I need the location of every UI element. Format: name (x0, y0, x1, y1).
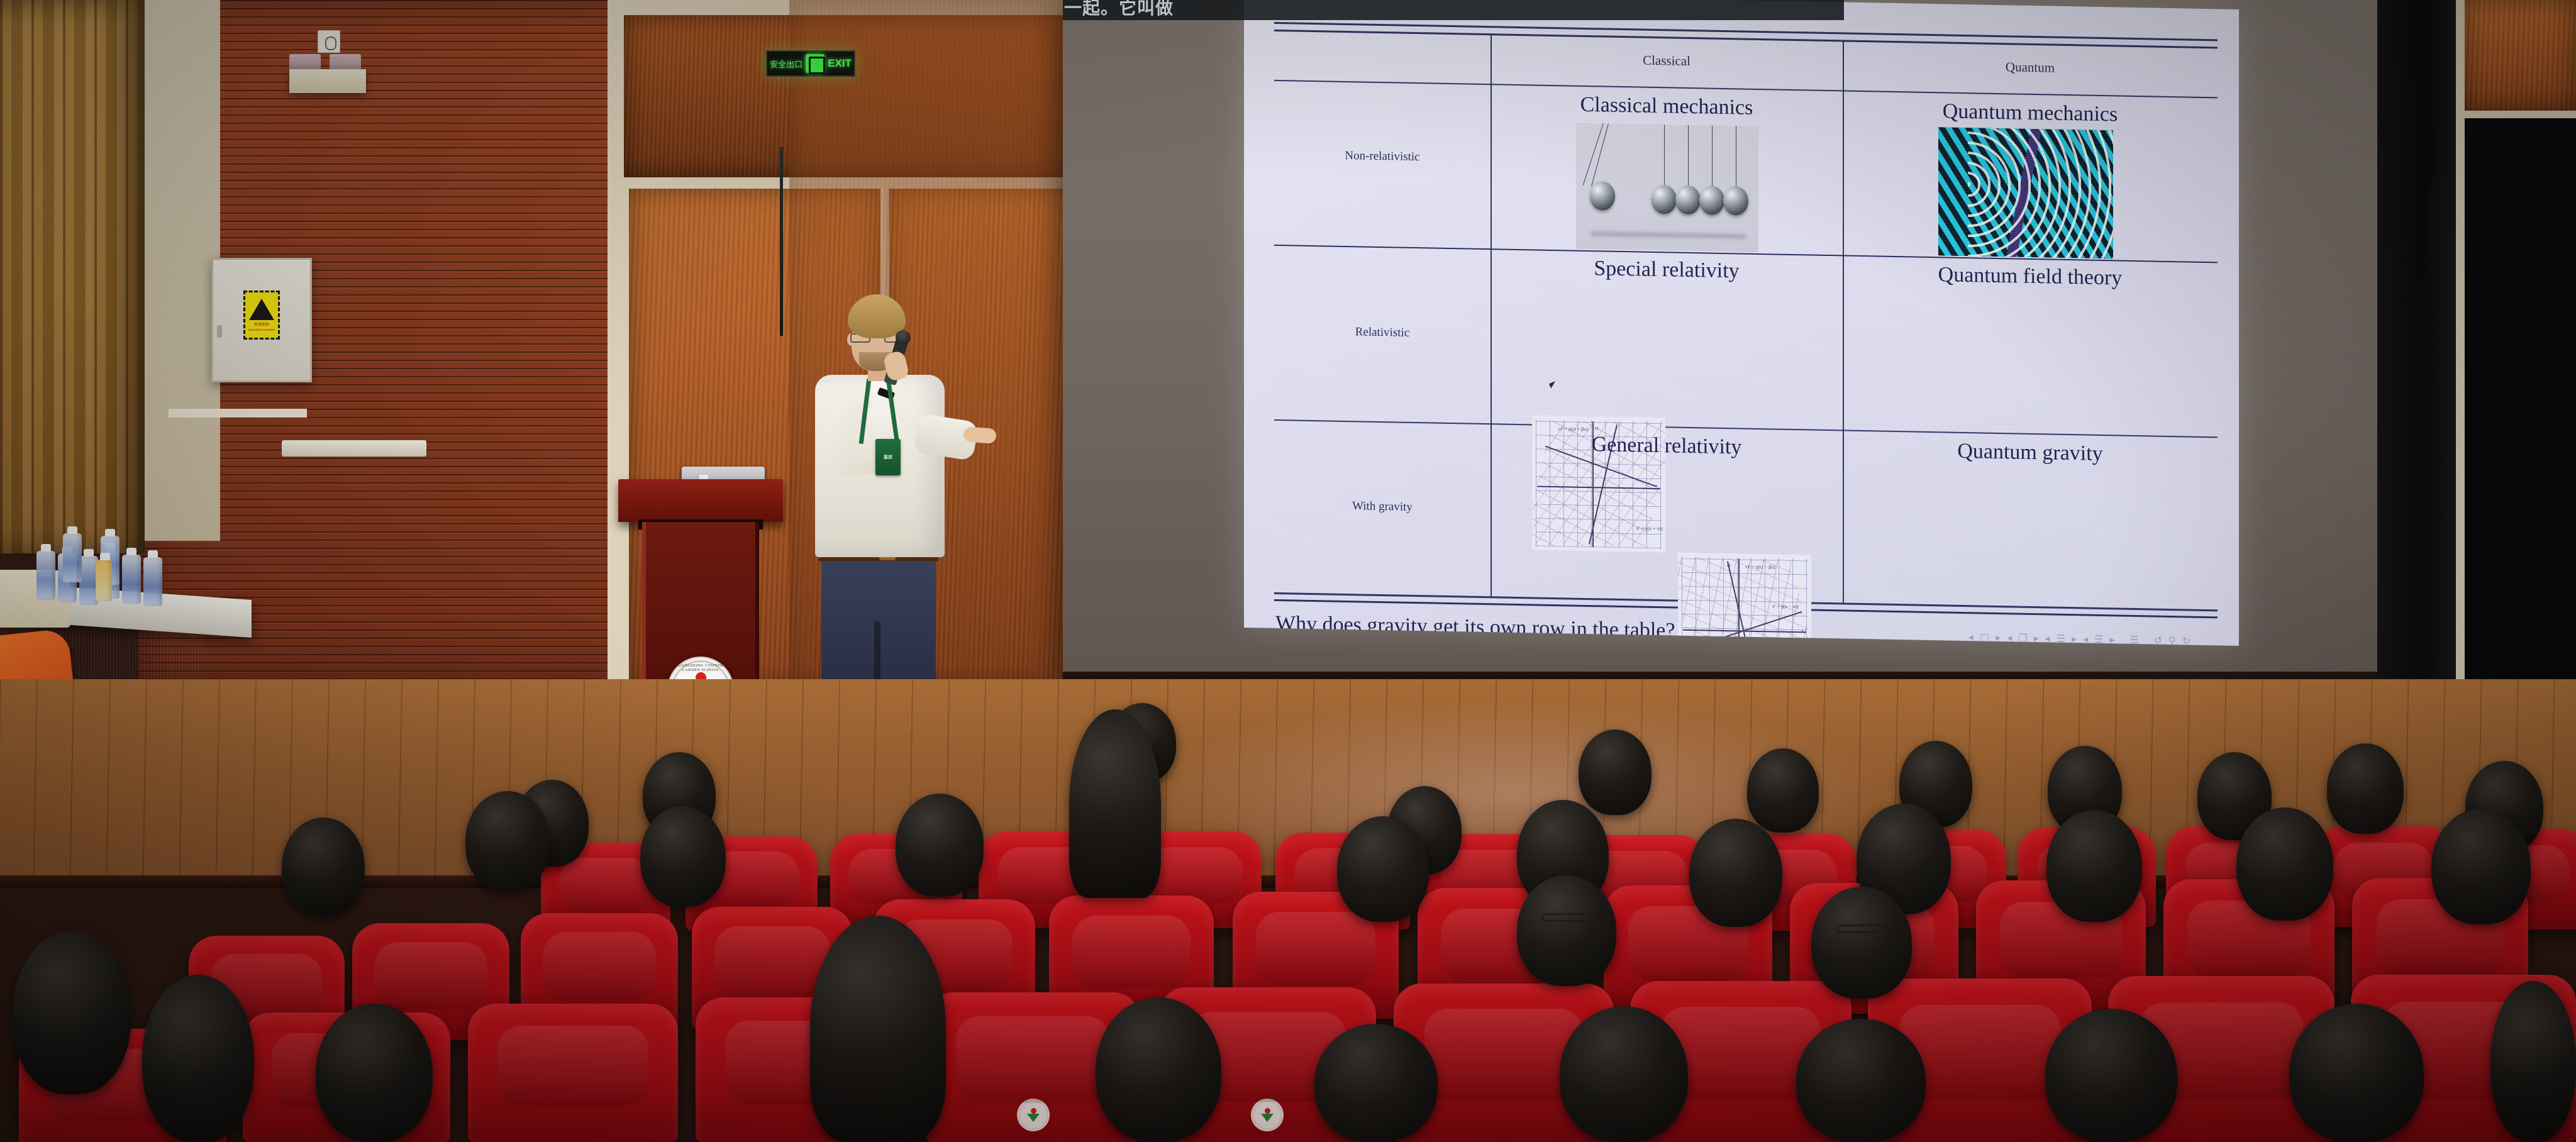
cell-title-special-relativity: Special relativity (1491, 255, 1843, 285)
audience-head (1560, 1006, 1688, 1142)
column-header-classical: Classical (1491, 50, 1843, 72)
lecture-hall-scene: 有电危险 ELECTRIC DANGER 安全出口 EXIT Classical… (0, 0, 2576, 1142)
nav-slide-icon[interactable]: □ (1980, 631, 1989, 643)
seat-school-emblem (1251, 1099, 1284, 1131)
row-label-relativistic: Relativistic (1274, 324, 1491, 341)
audience-head-glasses (1517, 875, 1616, 986)
double-slit-interference-image (1938, 127, 2113, 258)
door-mullion-horizontal (2456, 111, 2576, 118)
audience-head (282, 818, 365, 916)
live-caption-bar: 形组成，这些三角形以不同的方式连接在一起。它叫做 (1063, 0, 1844, 20)
glasses-icon (1542, 913, 1596, 922)
juice-bottle (96, 560, 112, 601)
seat[interactable] (468, 1004, 678, 1142)
seat-school-emblem (1017, 1099, 1050, 1131)
beamer-navigation-bar[interactable]: ◂ □ ▸ ◂ ❐ ▸ ◂ ☰ ▸ ◂ ☰ ▸ ☰ ↺ ⚲ ↻ (1968, 631, 2190, 646)
audience-head (2431, 809, 2531, 924)
cell-quantum-gravity: Quantum gravity (1843, 437, 2218, 468)
emergency-light-body (289, 69, 366, 93)
nav-subsection-icon[interactable]: ☰ (2057, 633, 2065, 645)
nav-section-icon[interactable]: ☰ (2094, 633, 2103, 645)
cell-title-classical-mechanics: Classical mechanics (1491, 91, 1843, 121)
audience-head-ponytail (1069, 709, 1161, 898)
water-bottle (122, 555, 141, 604)
nav-search-icon[interactable]: ⚲ (2168, 635, 2176, 646)
nav-redo-icon[interactable]: ↻ (2182, 635, 2190, 646)
presenter: 嘉宾 (780, 294, 987, 735)
column-header-quantum: Quantum (1843, 56, 2218, 79)
nav-frame-icon[interactable]: ❐ (2018, 632, 2027, 644)
nav-section-back-icon[interactable]: ◂ (2083, 633, 2088, 645)
nav-frame-forward-icon[interactable]: ▸ (2034, 632, 2039, 644)
audience-head (1579, 729, 1652, 815)
audience-head (1096, 997, 1221, 1142)
audience-head-ponytail (810, 916, 946, 1142)
presentation-slide: Classical Quantum Non-relativistic Class… (1244, 0, 2239, 646)
projection-screen: Classical Quantum Non-relativistic Class… (1063, 0, 2377, 674)
nav-subsection-forward-icon[interactable]: ▸ (2072, 633, 2077, 645)
audience-head (1689, 819, 1782, 927)
cell-classical-mechanics: Classical mechanics (1491, 91, 1843, 121)
running-man-icon (806, 54, 824, 73)
exit-sign: 安全出口 EXIT (766, 50, 855, 77)
warning-triangle-icon (249, 299, 274, 320)
audience-head (1314, 1024, 1438, 1142)
minkowski-diagram-right: ct' = γ(ct − βx) x' = γ(x − vt) ct x (1678, 553, 1811, 646)
glasses-icon (1836, 924, 1890, 933)
exit-sign-label-cn: 安全出口 (770, 58, 802, 70)
slide-question: Why does gravity get its own row in the … (1275, 612, 1675, 643)
water-bottle (63, 533, 82, 582)
newtons-cradle-image (1576, 123, 1758, 252)
cell-title-quantum-gravity: Quantum gravity (1843, 437, 2218, 468)
nav-slide-forward-icon[interactable]: ▸ (1996, 631, 2001, 643)
nav-appendix-icon[interactable]: ☰ (2129, 634, 2138, 646)
hazard-label-cn: 有电危险 (254, 321, 269, 327)
audience-head (2046, 810, 2142, 922)
cell-title-quantum-field-theory: Quantum field theory (1843, 261, 2218, 292)
table-vrule-1 (1491, 35, 1492, 596)
audience-head (2289, 1004, 2424, 1142)
water-bottle (143, 557, 162, 606)
audience-head (1747, 748, 1819, 833)
audience-head (896, 794, 984, 897)
cell-title-quantum-mechanics: Quantum mechanics (1843, 97, 2218, 128)
audience-head (640, 806, 726, 907)
hazard-label-en: ELECTRIC DANGER (248, 328, 275, 331)
row-label-non-relativistic: Non-relativistic (1274, 148, 1491, 165)
wall-panel-cream (145, 0, 220, 541)
lectern-top (618, 479, 783, 522)
doorway-right (2456, 0, 2576, 755)
audience-head (142, 975, 254, 1142)
electrical-cabinet[interactable]: 有电危险 ELECTRIC DANGER (211, 258, 312, 382)
audience-head (1796, 1019, 1926, 1142)
audience-head-glasses (1811, 887, 1912, 999)
presenter-left-hand (963, 426, 997, 444)
mouse-cursor (1549, 380, 1560, 388)
nav-subsection-back-icon[interactable]: ◂ (2045, 632, 2050, 644)
socket-row[interactable] (282, 440, 426, 457)
audience-head (2236, 807, 2333, 921)
audience-head (2045, 1009, 2177, 1142)
table-vrule-2 (1843, 41, 1844, 602)
name-badge-text: 嘉宾 (884, 454, 892, 460)
audience-head (13, 931, 131, 1094)
cabinet-handle[interactable] (217, 325, 222, 338)
wall-trim-strip (169, 409, 307, 418)
cell-special-relativity: Special relativity (1491, 255, 1843, 285)
door-transom-right (2463, 0, 2576, 111)
emblem-school-name: GUANGDONG COUNTRY GARDEN SCHOOL (669, 663, 733, 672)
emergency-light (284, 54, 372, 93)
audience-head (465, 791, 550, 890)
water-bottle (36, 551, 55, 600)
cell-quantum-field-theory: Quantum field theory (1843, 261, 2218, 292)
nav-slide-back-icon[interactable]: ◂ (1968, 631, 1974, 643)
name-badge: 嘉宾 (875, 439, 901, 475)
dark-pillar-right (2377, 0, 2457, 780)
audience-head (2327, 743, 2404, 834)
cell-quantum-mechanics: Quantum mechanics (1843, 97, 2218, 128)
row-label-with-gravity: With gravity (1274, 498, 1491, 516)
nav-section-forward-icon[interactable]: ▸ (2109, 633, 2114, 645)
nav-frame-back-icon[interactable]: ◂ (2007, 631, 2012, 643)
audience-head (1337, 816, 1429, 922)
wall-socket[interactable] (318, 30, 340, 53)
audience-head (316, 1004, 433, 1142)
electric-hazard-sign: 有电危险 ELECTRIC DANGER (243, 291, 280, 340)
caption-text: 形组成，这些三角形以不同的方式连接在一起。它叫做 (1063, 0, 1174, 19)
stage-curtain (0, 0, 145, 553)
nav-undo-icon[interactable]: ↺ (2154, 635, 2162, 646)
exit-sign-label-en: EXIT (828, 57, 852, 70)
audience-head (2490, 981, 2576, 1142)
